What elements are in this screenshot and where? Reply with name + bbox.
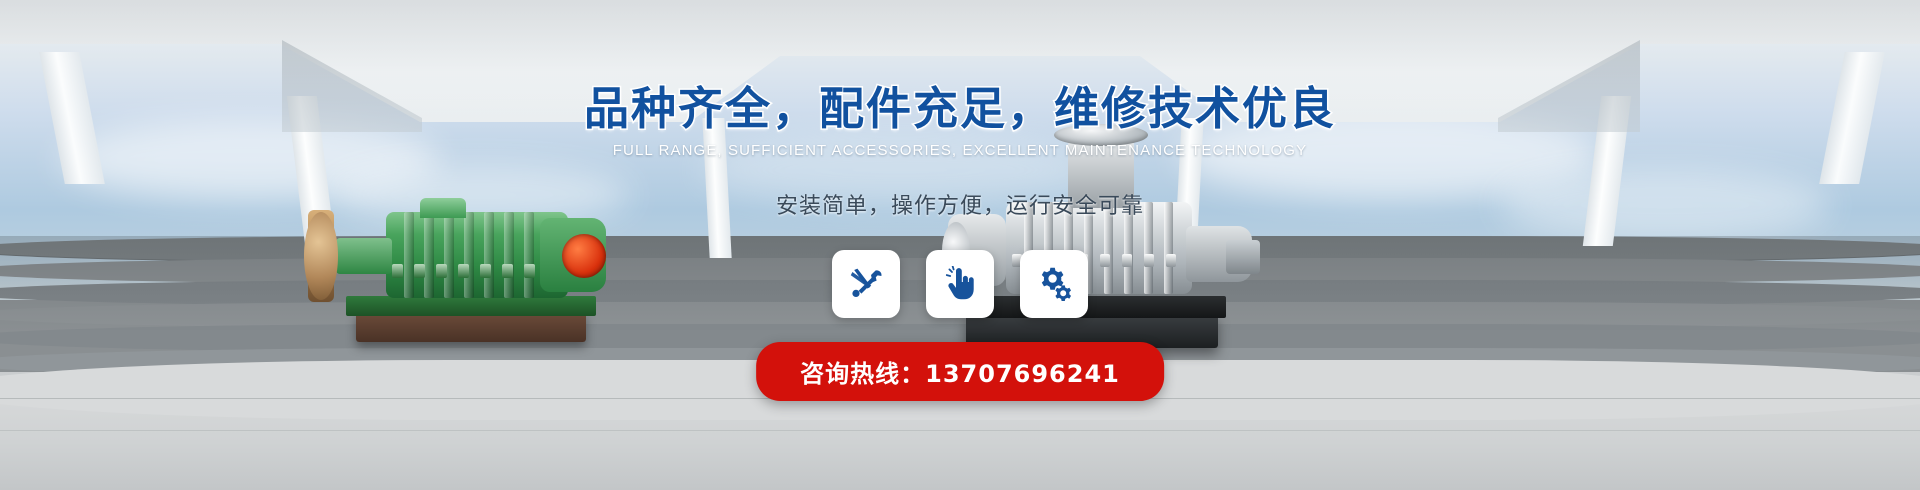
banner-headline: 品种齐全，配件充足，维修技术优良	[0, 72, 1920, 137]
feature-badge-row	[0, 250, 1920, 318]
banner-subtitle-english: FULL RANGE, SUFFICIENT ACCESSORIES, EXCE…	[0, 142, 1920, 159]
wrench-screwdriver-icon	[848, 266, 884, 302]
feature-badge-parts[interactable]	[1020, 250, 1088, 318]
banner-content: 品种齐全，配件充足，维修技术优良 FULL RANGE, SUFFICIENT …	[0, 0, 1920, 490]
gears-icon	[1036, 266, 1072, 302]
pointing-hand-icon	[942, 266, 978, 302]
promo-banner: 品种齐全，配件充足，维修技术优良 FULL RANGE, SUFFICIENT …	[0, 0, 1920, 490]
feature-badge-easy-operation[interactable]	[926, 250, 994, 318]
banner-subtitle-chinese: 安装简单，操作方便，运行安全可靠	[0, 188, 1920, 220]
hotline-button[interactable]: 咨询热线：13707696241	[756, 342, 1164, 401]
feature-badge-maintenance[interactable]	[832, 250, 900, 318]
